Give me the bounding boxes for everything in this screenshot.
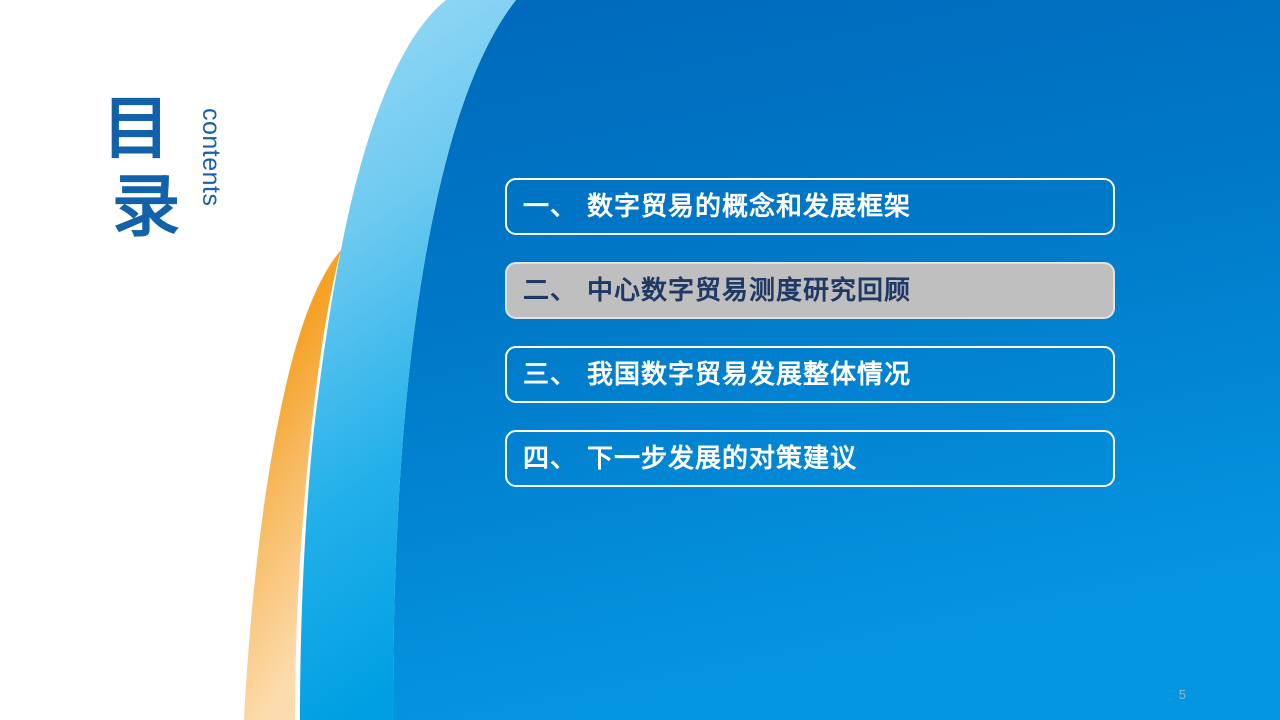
menu-item-2-label: 二、 中心数字贸易测度研究回顾 [523,278,911,304]
page-title-cn-line-1: 目 [102,96,180,164]
menu-item-4-label: 四、 下一步发展的对策建议 [523,446,857,472]
slide-canvas: 目 录 contents 一、 数字贸易的概念和发展框架 二、 中心数字贸易测度… [0,0,1280,720]
menu-item-1[interactable]: 一、 数字贸易的概念和发展框架 [505,178,1115,235]
menu-item-2[interactable]: 二、 中心数字贸易测度研究回顾 [505,262,1115,319]
contents-menu: 一、 数字贸易的概念和发展框架 二、 中心数字贸易测度研究回顾 三、 我国数字贸… [505,178,1115,514]
page-title-cn: 目 录 [102,96,180,242]
page-title-cn-line-2: 录 [102,174,180,242]
page-number: 5 [1179,687,1186,702]
menu-item-3-label: 三、 我国数字贸易发展整体情况 [523,362,911,388]
menu-item-3[interactable]: 三、 我国数字贸易发展整体情况 [505,346,1115,403]
menu-item-1-label: 一、 数字贸易的概念和发展框架 [523,194,911,220]
title-block: 目 录 contents [88,96,258,276]
page-title-en: contents [196,108,225,207]
menu-item-4[interactable]: 四、 下一步发展的对策建议 [505,430,1115,487]
